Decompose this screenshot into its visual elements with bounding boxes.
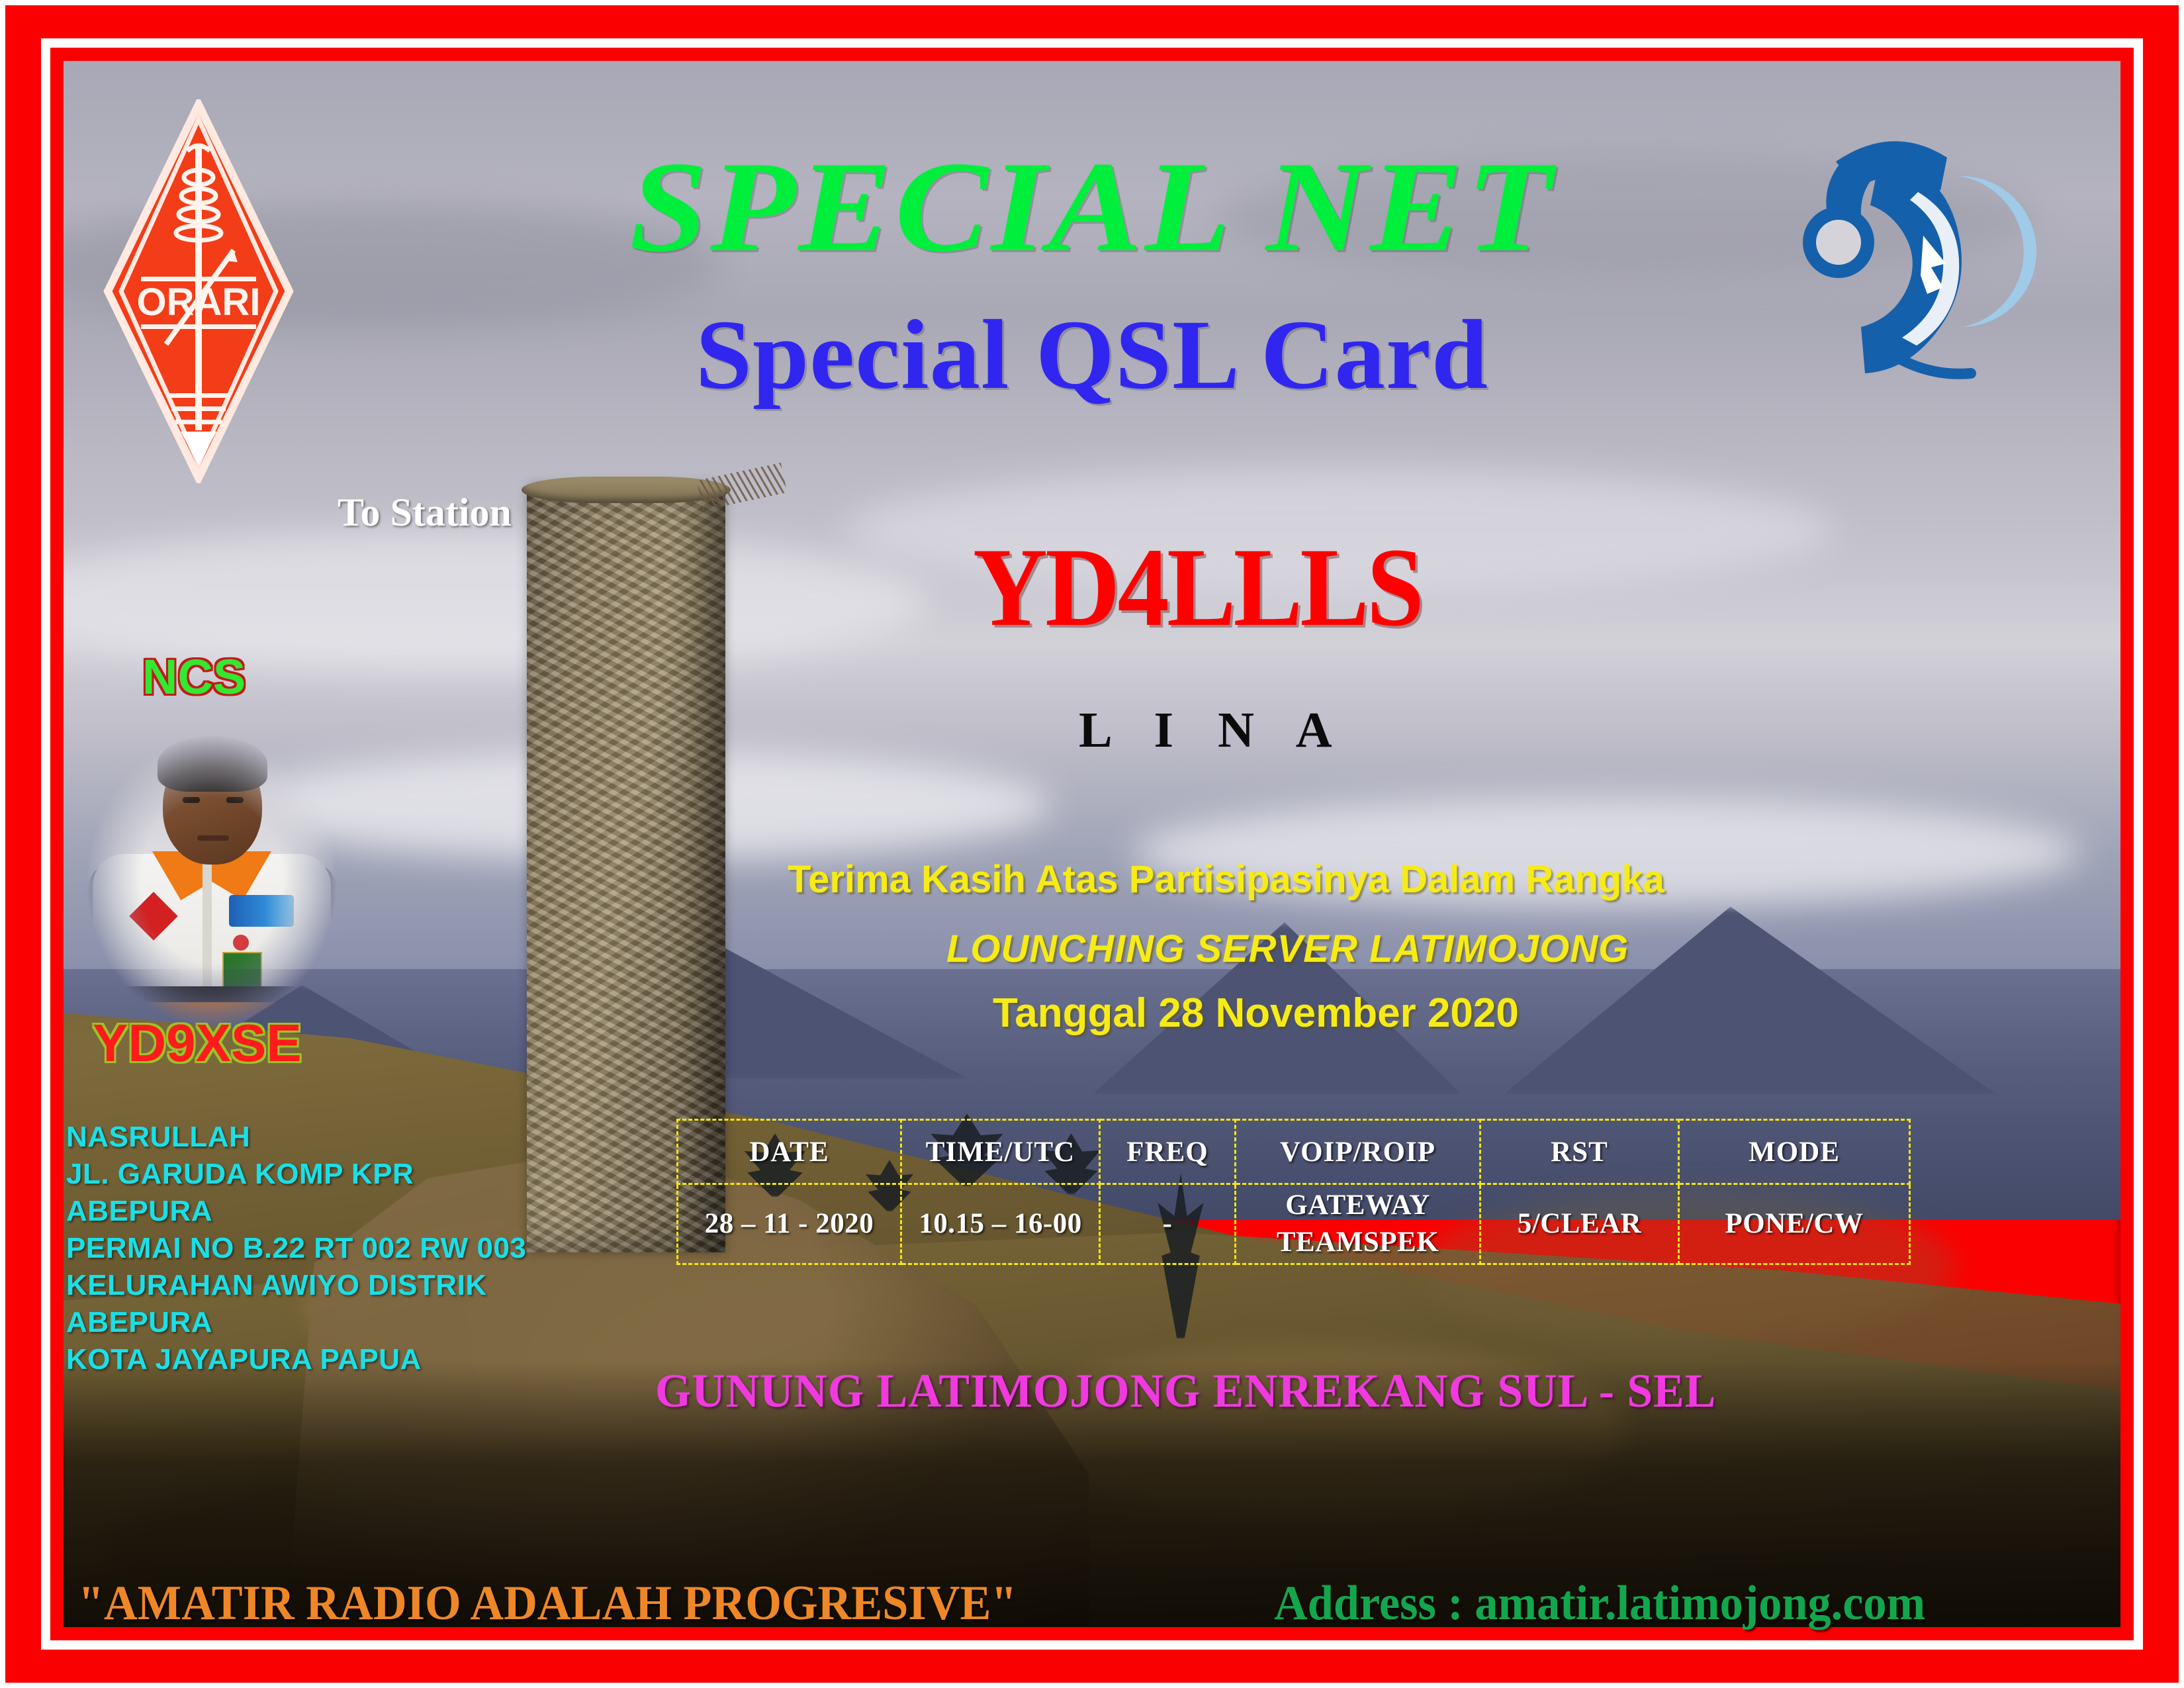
cell-voip-roip: GATEWAY TEAMSPEK: [1236, 1184, 1480, 1264]
ncs-label: NCS: [142, 649, 246, 705]
portrait-id-clip: [233, 935, 249, 951]
qsl-card: ORARI: [0, 0, 2184, 1688]
event-date: Tanggal 28 November 2020: [993, 990, 1519, 1037]
col-header-date: DATE: [678, 1120, 901, 1184]
cell-time-utc: 10.15 – 16-00: [901, 1184, 1100, 1264]
station-callsign: YD4LLLS: [973, 523, 1422, 652]
address-line-1: NASRULLAH: [66, 1119, 526, 1156]
cell-voip-roip-line2: TEAMSPEK: [1236, 1224, 1479, 1261]
table-header-row: DATE TIME/UTC FREQ VOIP/ROIP RST MODE: [678, 1120, 1910, 1184]
qso-details-table: DATE TIME/UTC FREQ VOIP/ROIP RST MODE 28…: [676, 1119, 1911, 1265]
mailing-address-block: NASRULLAH JL. GARUDA KOMP KPR ABEPURA PE…: [66, 1119, 526, 1378]
address-line-4: PERMAI NO B.22 RT 002 RW 003: [66, 1230, 526, 1267]
portrait-eye-right: [226, 797, 244, 803]
operator-name: L I N A: [1079, 702, 1348, 759]
address-line-6: ABEPURA: [66, 1304, 526, 1341]
event-name: LOUNCHING SERVER LATIMOJONG: [946, 927, 1629, 971]
col-header-freq: FREQ: [1100, 1120, 1236, 1184]
content-layer: ORARI: [0, 0, 2184, 1688]
ncs-operator-photo: [73, 722, 351, 1039]
col-header-mode: MODE: [1679, 1120, 1910, 1184]
subtitle-special-qsl-card: Special QSL Card: [0, 298, 2184, 412]
portrait-mouth: [197, 835, 229, 841]
address-line-7: KOTA JAYAPURA PAPUA: [66, 1341, 526, 1378]
web-address-text: Address : amatir.latimojong.com: [1274, 1575, 1925, 1632]
to-station-label: To Station: [338, 490, 512, 536]
cell-rst: 5/CLEAR: [1480, 1184, 1679, 1264]
thanks-line: Terima Kasih Atas Partisipasinya Dalam R…: [788, 857, 1664, 902]
address-line-2: JL. GARUDA KOMP KPR: [66, 1156, 526, 1193]
ncs-callsign: YD9XSE: [93, 1013, 302, 1074]
col-header-voip-roip: VOIP/ROIP: [1236, 1120, 1480, 1184]
portrait-hair: [158, 736, 267, 792]
cell-voip-roip-line1: GATEWAY: [1236, 1187, 1479, 1224]
table-row: 28 – 11 - 2020 10.15 – 16-00 - GATEWAY T…: [678, 1184, 1910, 1264]
mountain-location-label: GUNUNG LATIMOJONG ENREKANG SUL - SEL: [655, 1364, 1716, 1419]
page-title-special-net: SPECIAL NET: [0, 132, 2184, 281]
portrait-chest-logo: [229, 895, 294, 927]
cell-date: 28 – 11 - 2020: [678, 1184, 901, 1264]
slogan-text: "AMATIR RADIO ADALAH PROGRESIVE": [78, 1575, 1017, 1632]
col-header-time-utc: TIME/UTC: [901, 1120, 1100, 1184]
cell-freq: -: [1100, 1184, 1236, 1264]
address-line-3: ABEPURA: [66, 1193, 526, 1230]
address-line-5: KELURAHAN AWIYO DISTRIK: [66, 1267, 526, 1304]
col-header-rst: RST: [1480, 1120, 1679, 1184]
cell-mode: PONE/CW: [1679, 1184, 1910, 1264]
portrait-eye-left: [183, 797, 200, 803]
